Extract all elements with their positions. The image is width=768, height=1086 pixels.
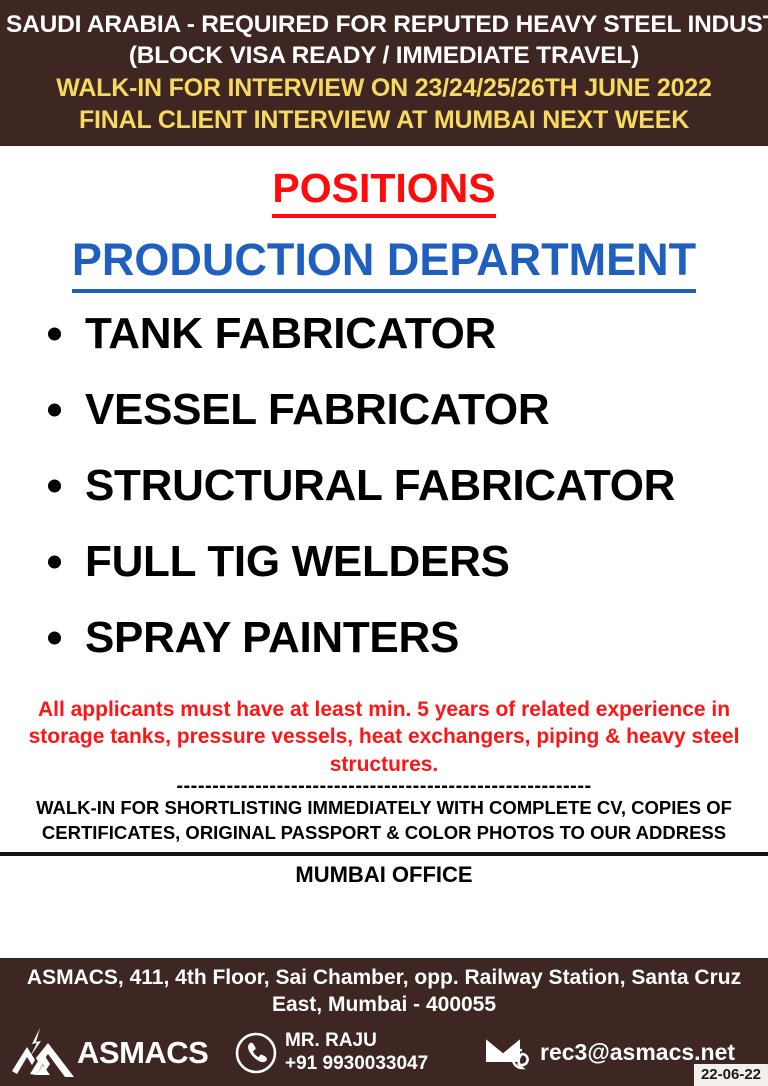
positions-list: TANK FABRICATOR VESSEL FABRICATOR STRUCT…	[0, 312, 768, 692]
job-advertisement-poster: SAUDI ARABIA - REQUIRED FOR REPUTED HEAV…	[0, 0, 768, 1086]
department-heading: PRODUCTION DEPARTMENT	[0, 237, 768, 282]
envelope-icon	[485, 1033, 533, 1073]
list-item: FULL TIG WELDERS	[48, 540, 768, 584]
phone-contact-text: MR. RAJU +91 9930033047	[285, 1030, 428, 1075]
contact-phone-number: +91 9930033047	[285, 1053, 428, 1074]
email-address: rec3@asmacs.net	[540, 1039, 735, 1066]
department-heading-text: PRODUCTION DEPARTMENT	[72, 234, 696, 293]
experience-requirements: All applicants must have at least min. 5…	[0, 696, 768, 779]
positions-title-text: POSITIONS	[272, 165, 495, 218]
asmacs-logo: ASMACS	[10, 1027, 235, 1079]
status-badge: 22-06-22	[694, 1064, 768, 1086]
office-address: ASMACS, 411, 4th Floor, Sai Chamber, opp…	[0, 964, 768, 1019]
asmacs-wordmark: ASMACS	[77, 1035, 208, 1071]
header-line-final-interview: FINAL CLIENT INTERVIEW AT MUMBAI NEXT WE…	[6, 104, 762, 136]
dashed-divider: ----------------------------------------…	[0, 779, 768, 793]
list-item: TANK FABRICATOR	[48, 312, 768, 356]
mountain-peaks-icon	[10, 1027, 76, 1079]
phone-contact[interactable]: MR. RAJU +91 9930033047	[235, 1030, 485, 1075]
list-item: VESSEL FABRICATOR	[48, 388, 768, 432]
phone-icon	[235, 1032, 277, 1074]
footer-banner: ASMACS, 411, 4th Floor, Sai Chamber, opp…	[0, 958, 768, 1086]
office-label: MUMBAI OFFICE	[0, 856, 768, 894]
header-line-visa-status: (BLOCK VISA READY / IMMEDIATE TRAVEL)	[6, 40, 762, 71]
header-banner: SAUDI ARABIA - REQUIRED FOR REPUTED HEAV…	[0, 0, 768, 146]
page-title: POSITIONS	[0, 168, 768, 209]
application-instructions: WALK-IN FOR SHORTLISTING IMMEDIATELY WIT…	[0, 795, 768, 846]
header-line-country-role: SAUDI ARABIA - REQUIRED FOR REPUTED HEAV…	[6, 9, 762, 40]
contact-person-name: MR. RAJU	[285, 1030, 377, 1051]
list-item: STRUCTURAL FABRICATOR	[48, 464, 768, 508]
list-item: SPRAY PAINTERS	[48, 616, 768, 660]
main-content: POSITIONS PRODUCTION DEPARTMENT TANK FAB…	[0, 146, 768, 958]
contact-row: ASMACS MR. RAJU +91 9930033047	[0, 1027, 768, 1079]
header-line-interview-dates: WALK-IN FOR INTERVIEW ON 23/24/25/26TH J…	[6, 72, 762, 104]
